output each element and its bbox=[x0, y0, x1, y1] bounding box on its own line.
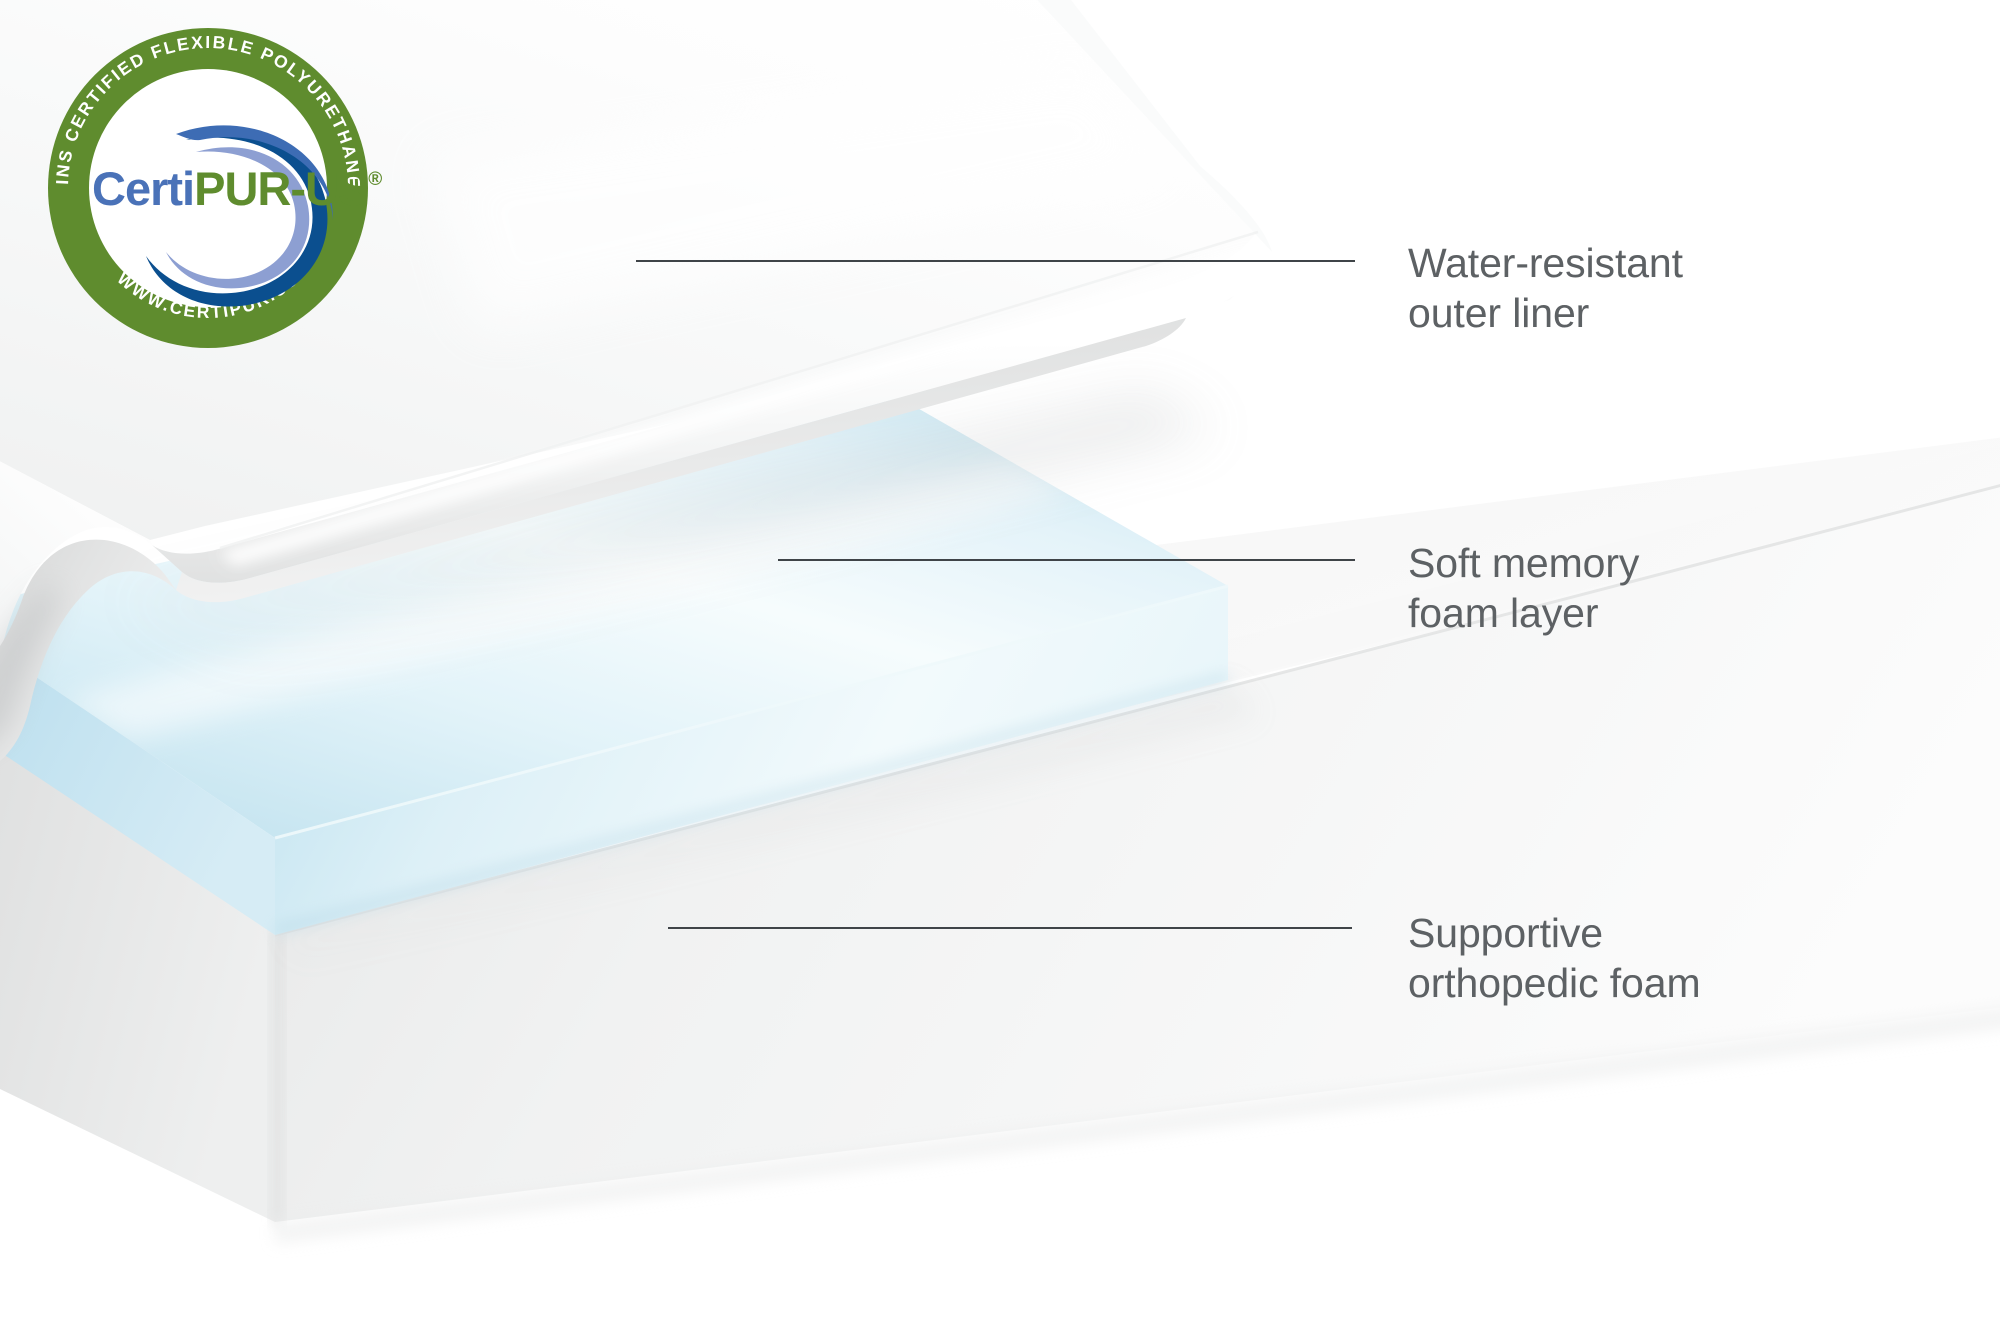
callout-label-outer-liner: Water-resistant outer liner bbox=[1408, 238, 1683, 338]
infographic-canvas: CONTAINS CERTIFIED FLEXIBLE POLYURETHANE… bbox=[0, 0, 2000, 1334]
callout-label-support-foam: Supportive orthopedic foam bbox=[1408, 908, 1701, 1008]
badge-wordmark: CertiPUR-US® bbox=[92, 162, 382, 215]
mattress-illustration: CONTAINS CERTIFIED FLEXIBLE POLYURETHANE… bbox=[0, 0, 2000, 1334]
callout-label-memory-foam: Soft memory foam layer bbox=[1408, 538, 1639, 638]
